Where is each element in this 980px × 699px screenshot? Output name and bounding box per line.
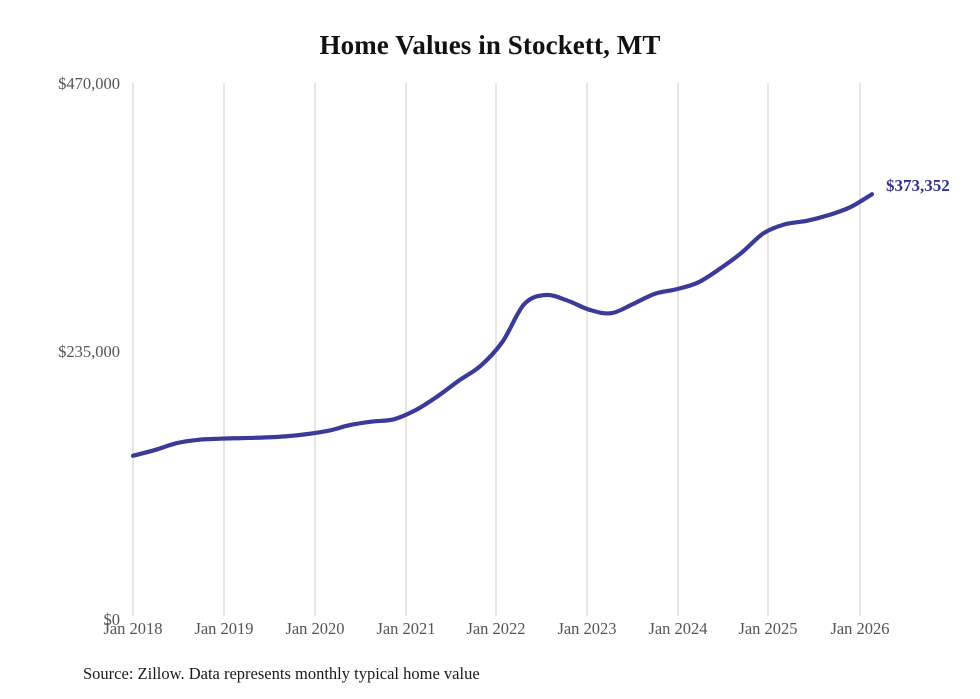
x-tick-label-3: Jan 2021: [376, 619, 435, 639]
series-lines: [133, 194, 872, 456]
x-tick-label-6: Jan 2024: [648, 619, 707, 639]
y-tick-label-1: $235,000: [58, 342, 120, 362]
x-tick-label-5: Jan 2023: [557, 619, 616, 639]
x-tick-label-4: Jan 2022: [466, 619, 525, 639]
x-tick-label-7: Jan 2025: [738, 619, 797, 639]
x-tick-label-8: Jan 2026: [830, 619, 889, 639]
end-value-annotation: $373,352: [886, 176, 950, 196]
series-line-0: [133, 194, 872, 456]
x-tick-label-1: Jan 2019: [194, 619, 253, 639]
source-note: Source: Zillow. Data represents monthly …: [83, 664, 480, 684]
y-tick-label-0: $470,000: [58, 74, 120, 94]
x-tick-label-2: Jan 2020: [285, 619, 344, 639]
line-chart-plot: [0, 0, 980, 699]
x-tick-label-0: Jan 2018: [103, 619, 162, 639]
chart-container: Home Values in Stockett, MT $470,000$235…: [0, 0, 980, 699]
